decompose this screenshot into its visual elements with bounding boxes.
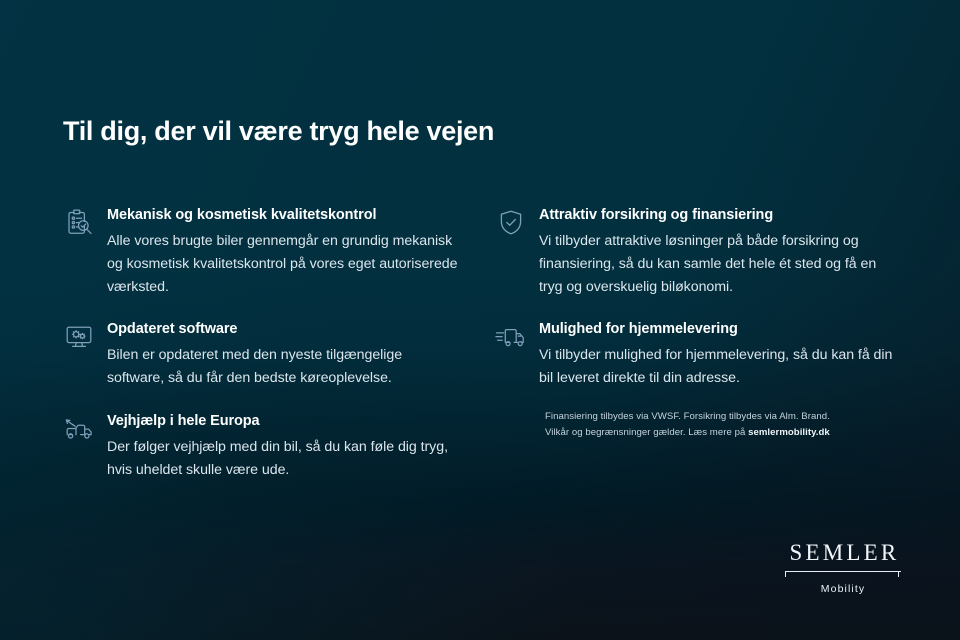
- feature-item: Attraktiv forsikring og finansiering Vi …: [495, 205, 895, 299]
- semler-mobility-logo: SEMLER Mobility: [783, 541, 903, 595]
- tow-truck-icon: [63, 411, 107, 451]
- feature-title: Vejhjælp i hele Europa: [107, 412, 463, 431]
- feature-text: Opdateret software Bilen er opdateret me…: [107, 319, 463, 390]
- feature-item: Mulighed for hjemmelevering Vi tilbyder …: [495, 319, 895, 390]
- feature-text: Attraktiv forsikring og finansiering Vi …: [539, 205, 895, 299]
- feature-title: Opdateret software: [107, 320, 463, 339]
- feature-item: Mekanisk og kosmetisk kvalitetskontrol A…: [63, 205, 463, 299]
- feature-title: Mekanisk og kosmetisk kvalitetskontrol: [107, 206, 463, 225]
- feature-text: Mekanisk og kosmetisk kvalitetskontrol A…: [107, 205, 463, 299]
- feature-column-left: Mekanisk og kosmetisk kvalitetskontrol A…: [63, 205, 463, 482]
- semlermobility-link[interactable]: semlermobility.dk: [748, 427, 830, 438]
- logo-wordmark: SEMLER: [783, 541, 903, 564]
- feature-description: Bilen er opdateret med den nyeste tilgæn…: [107, 344, 463, 390]
- feature-text: Vejhjælp i hele Europa Der følger vejhjæ…: [107, 411, 463, 482]
- fineprint-line-2: Vilkår og begrænsninger gælder. Læs mere…: [545, 425, 885, 441]
- feature-item: Opdateret software Bilen er opdateret me…: [63, 319, 463, 390]
- feature-title: Attraktiv forsikring og finansiering: [539, 206, 895, 225]
- clipboard-check-magnifier-icon: [63, 205, 107, 245]
- logo-divider-rule: [783, 571, 903, 580]
- feature-text: Mulighed for hjemmelevering Vi tilbyder …: [539, 319, 895, 390]
- feature-description: Vi tilbyder mulighed for hjemmelevering,…: [539, 344, 895, 390]
- feature-item: Vejhjælp i hele Europa Der følger vejhjæ…: [63, 411, 463, 482]
- page-title: Til dig, der vil være tryg hele vejen: [63, 116, 494, 147]
- feature-column-right: Attraktiv forsikring og finansiering Vi …: [495, 205, 895, 390]
- feature-title: Mulighed for hjemmelevering: [539, 320, 895, 339]
- logo-subtitle: Mobility: [783, 583, 903, 595]
- fineprint-line-1: Finansiering tilbydes via VWSF. Forsikri…: [545, 409, 885, 425]
- monitor-gears-icon: [63, 319, 107, 359]
- legal-fineprint: Finansiering tilbydes via VWSF. Forsikri…: [545, 409, 885, 441]
- fineprint-line-2-text: Vilkår og begrænsninger gælder. Læs mere…: [545, 427, 748, 438]
- slide-canvas: Til dig, der vil være tryg hele vejen: [0, 0, 960, 640]
- feature-description: Der følger vejhjælp med din bil, så du k…: [107, 436, 463, 482]
- feature-description: Alle vores brugte biler gennemgår en gru…: [107, 230, 463, 299]
- delivery-truck-icon: [495, 319, 539, 359]
- feature-description: Vi tilbyder attraktive løsninger på både…: [539, 230, 895, 299]
- shield-check-icon: [495, 205, 539, 245]
